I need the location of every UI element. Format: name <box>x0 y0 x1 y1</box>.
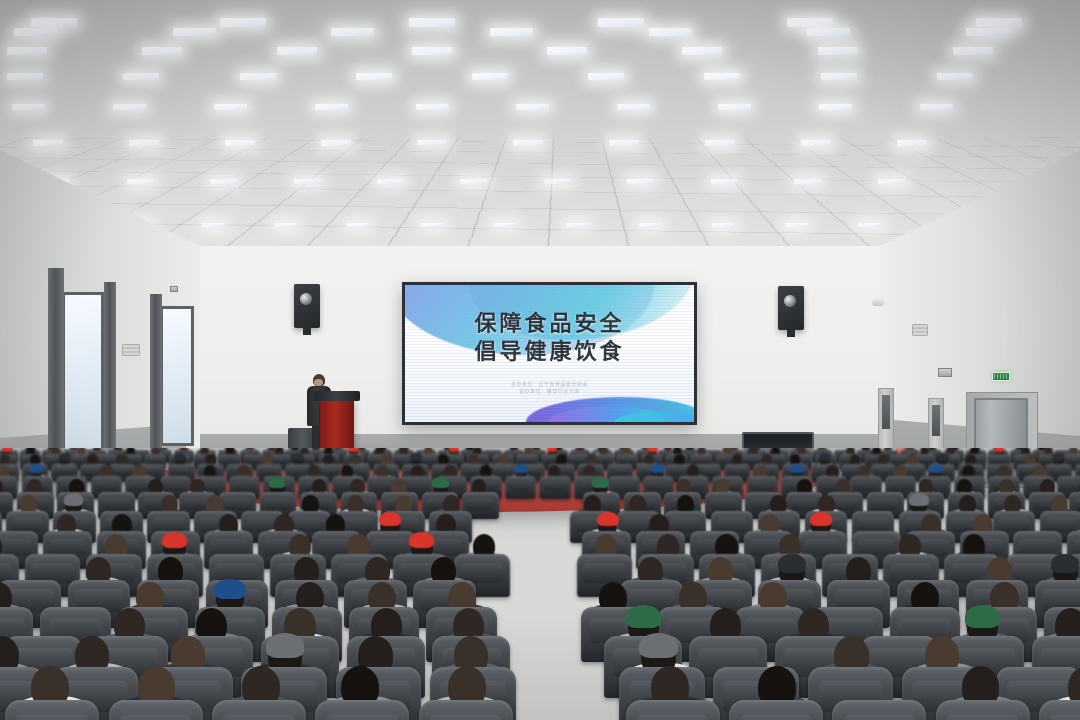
auditorium-seat[interactable] <box>936 700 1030 720</box>
ceiling-light-panel <box>225 140 255 146</box>
ceiling-light-panel <box>966 28 1010 36</box>
ceiling-light-panel <box>897 140 927 146</box>
ceiling-light-panel <box>293 179 320 184</box>
auditorium-seat[interactable] <box>419 700 513 720</box>
ceiling-light-panel <box>113 104 146 110</box>
ceiling-light-panel <box>648 28 691 36</box>
ceiling-light-panel <box>682 47 722 55</box>
ceiling-light-panel <box>409 18 455 27</box>
podium-top-surface <box>314 391 360 401</box>
ceiling-light-panel <box>617 104 650 110</box>
led-screen-subtitle: 主办单位：辽宁省食品安全协会 协办单位：餐饮行业分会 <box>405 382 694 396</box>
auditorium-seat[interactable] <box>5 700 99 720</box>
ceiling-light-panel <box>331 28 374 36</box>
dark-curtain <box>48 268 64 458</box>
ceiling-light-panel <box>417 140 447 146</box>
ceiling-light-panel <box>705 140 735 146</box>
ceiling-light-panel <box>818 104 851 110</box>
ceiling-light-panel <box>794 179 821 184</box>
auditorium-scene: 保障食品安全 倡导健康饮食 主办单位：辽宁省食品安全协会 协办单位：餐饮行业分会 <box>0 0 1080 720</box>
tall-window <box>160 306 194 446</box>
ceiling-light-panel <box>718 104 751 110</box>
ceiling-light-panel <box>547 47 587 55</box>
ceiling-light-panel <box>347 223 370 227</box>
speaker-bracket <box>787 328 795 337</box>
ceiling-light-panel <box>172 28 215 36</box>
seated-audience <box>0 448 1080 720</box>
speaker-bracket <box>303 326 311 335</box>
auditorium-seat[interactable] <box>729 700 823 720</box>
tall-window <box>62 292 104 452</box>
wall-notice-panel <box>878 388 894 450</box>
stage-led-wall: 保障食品安全 倡导健康饮食 主办单位：辽宁省食品安全协会 协办单位：餐饮行业分会 <box>402 282 697 425</box>
ceiling-light-panel <box>377 179 404 184</box>
presenter-face <box>314 379 323 386</box>
led-screen-surface: 保障食品安全 倡导健康饮食 主办单位：辽宁省食品安全协会 协办单位：餐饮行业分会 <box>405 285 694 422</box>
exit-sign <box>992 372 1010 381</box>
wall-sign <box>170 286 178 292</box>
ceiling-light-panel <box>598 18 644 27</box>
ceiling-light-panel <box>919 104 953 110</box>
pa-speaker-right <box>778 286 804 330</box>
ceiling-light-panel <box>315 104 348 110</box>
ceiling-light-panel <box>420 223 443 227</box>
ceiling-light-panel <box>210 179 237 184</box>
ceiling-light-panel <box>277 47 317 55</box>
auditorium-seat[interactable] <box>315 700 409 720</box>
ceiling-light-panel <box>704 73 741 80</box>
ceiling-light-panel <box>129 140 159 146</box>
ceiling-light-panel <box>274 223 297 227</box>
ceiling-light-panel <box>142 47 182 55</box>
ceiling-light-panel <box>356 73 392 80</box>
led-screen-title: 保障食品安全 倡导健康饮食 <box>405 311 694 367</box>
ceiling-light-panel <box>785 223 809 227</box>
pa-speaker-left <box>294 284 320 328</box>
security-camera <box>872 298 884 306</box>
ceiling-light-panel <box>412 47 452 55</box>
ceiling-light-panel <box>513 140 543 146</box>
ceiling-light-panel <box>937 73 974 80</box>
ceiling-light-panel <box>639 223 662 227</box>
air-conditioning-vent <box>122 344 140 356</box>
ceiling-light-panel <box>493 223 516 227</box>
ceiling-light-panel <box>126 179 153 184</box>
ceiling-light-panel <box>460 179 487 184</box>
ceiling-light-panel <box>472 73 508 80</box>
ceiling-light-panel <box>858 223 882 227</box>
ceiling-light-panel <box>712 223 735 227</box>
ceiling-light-panel <box>7 73 44 80</box>
screen-title-line-2: 倡导健康饮食 <box>405 339 694 367</box>
auditorium-seat[interactable] <box>832 700 926 720</box>
ceiling-light-panel <box>807 28 850 36</box>
auditorium-seat[interactable] <box>109 700 203 720</box>
ceiling-light-panel <box>33 140 63 146</box>
ceiling-light-panel <box>31 18 78 27</box>
ceiling-light-panel <box>609 140 639 146</box>
panel-card <box>882 395 890 429</box>
ceiling-light-panel <box>201 223 224 227</box>
ceiling-light-panel <box>214 104 247 110</box>
ceiling-light-panel <box>321 140 351 146</box>
ceiling-light-panel <box>14 28 57 36</box>
ceiling-light-panel <box>952 47 992 55</box>
ceiling-light-panel <box>516 104 549 110</box>
ceiling-light-panel <box>544 179 571 184</box>
audience-row <box>0 448 1080 720</box>
ceiling-light-panel <box>711 179 738 184</box>
ceiling-light-panel <box>820 73 857 80</box>
ceiling-light-panel <box>239 73 275 80</box>
panel-card <box>932 405 940 436</box>
screen-subtitle-line-2: 协办单位：餐饮行业分会 <box>405 389 694 396</box>
ceiling-light-panel <box>627 179 654 184</box>
air-conditioning-vent <box>912 324 928 336</box>
ceiling-light-panel <box>490 28 533 36</box>
auditorium-seat[interactable] <box>1039 700 1080 720</box>
ceiling-light-panel <box>220 18 266 27</box>
ceiling-light-panel <box>975 18 1022 27</box>
screen-subtitle-line-1: 主办单位：辽宁省食品安全协会 <box>405 382 694 389</box>
ceiling-light-panel <box>416 104 449 110</box>
wall-notice-sign <box>938 368 952 377</box>
ceiling-light-panel <box>787 18 834 27</box>
ceiling-light-panel <box>817 47 857 55</box>
dark-curtain <box>104 282 116 458</box>
screen-title-line-1: 保障食品安全 <box>405 311 694 339</box>
auditorium-seat[interactable] <box>212 700 306 720</box>
ceiling-light-panel <box>123 73 160 80</box>
auditorium-seat[interactable] <box>626 700 720 720</box>
ceiling-light-panel <box>566 223 589 227</box>
ceiling-light-panel <box>878 179 905 184</box>
ceiling-light-panel <box>7 47 47 55</box>
ceiling-light-panel <box>801 140 831 146</box>
ceiling-light-panel <box>588 73 624 80</box>
dark-curtain <box>150 294 162 452</box>
ceiling-light-panel <box>12 104 45 110</box>
